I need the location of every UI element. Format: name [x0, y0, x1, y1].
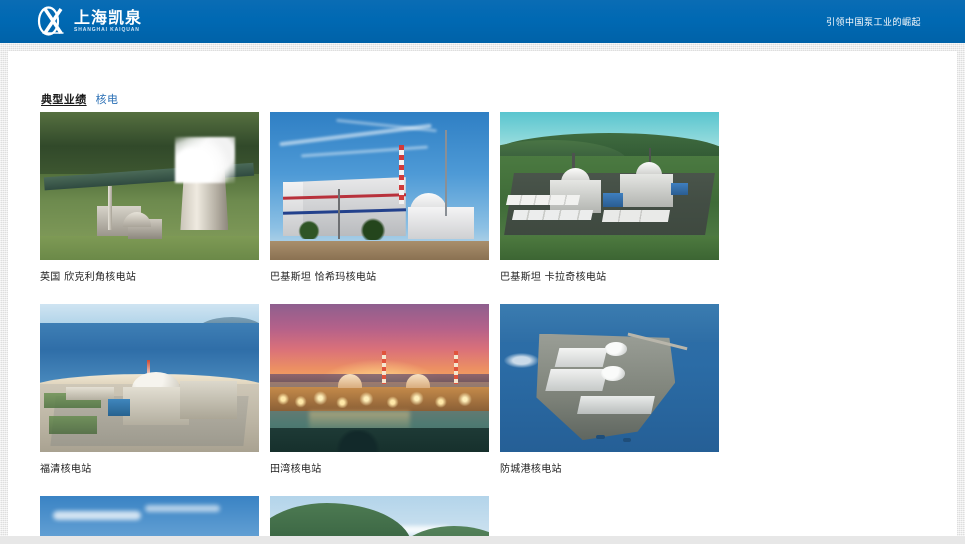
- list-item[interactable]: 田湾核电站: [270, 304, 489, 475]
- project-thumbnail-karachi[interactable]: [500, 112, 719, 260]
- project-thumbnail-fangchenggang[interactable]: [500, 304, 719, 452]
- site-header: 上海凯泉 SHANGHAI KAIQUAN 引领中国泵工业的崛起: [0, 0, 965, 43]
- project-caption: 英国 欣克利角核电站: [40, 268, 259, 283]
- list-item[interactable]: 巴基斯坦 恰希玛核电站: [270, 112, 489, 283]
- project-grid: 英国 欣克利角核电站 巴基斯坦 恰希玛核电站: [40, 112, 928, 544]
- project-caption: 防城港核电站: [500, 460, 719, 475]
- project-caption: 巴基斯坦 恰希玛核电站: [270, 268, 489, 283]
- kaiquan-kx-monogram-icon: [37, 6, 69, 37]
- page-bottom-strip: [0, 536, 965, 544]
- project-caption: 田湾核电站: [270, 460, 489, 475]
- list-item[interactable]: 福清核电站: [40, 304, 259, 475]
- logo-text-cn: 上海凯泉: [74, 10, 142, 26]
- project-thumbnail-fuqing[interactable]: [40, 304, 259, 452]
- project-thumbnail-hinkley[interactable]: [40, 112, 259, 260]
- project-caption: 福清核电站: [40, 460, 259, 475]
- section-title: 典型业绩: [41, 91, 87, 107]
- site-logo[interactable]: 上海凯泉 SHANGHAI KAIQUAN: [37, 5, 142, 38]
- section-header: 典型业绩 核电: [41, 91, 118, 107]
- project-thumbnail-chashma[interactable]: [270, 112, 489, 260]
- project-caption: 巴基斯坦 卡拉奇核电站: [500, 268, 719, 283]
- logo-text-en: SHANGHAI KAIQUAN: [74, 28, 142, 33]
- list-item[interactable]: 防城港核电站: [500, 304, 719, 475]
- content-panel: 典型业绩 核电 英国 欣克利角核电站 巴基斯坦 恰希玛核电站: [8, 51, 957, 536]
- list-item[interactable]: 巴基斯坦 卡拉奇核电站: [500, 112, 719, 283]
- list-item[interactable]: 英国 欣克利角核电站: [40, 112, 259, 283]
- project-thumbnail-tianwan[interactable]: [270, 304, 489, 452]
- header-slogan: 引领中国泵工业的崛起: [826, 0, 921, 43]
- section-subtitle-nuclear[interactable]: 核电: [96, 91, 119, 107]
